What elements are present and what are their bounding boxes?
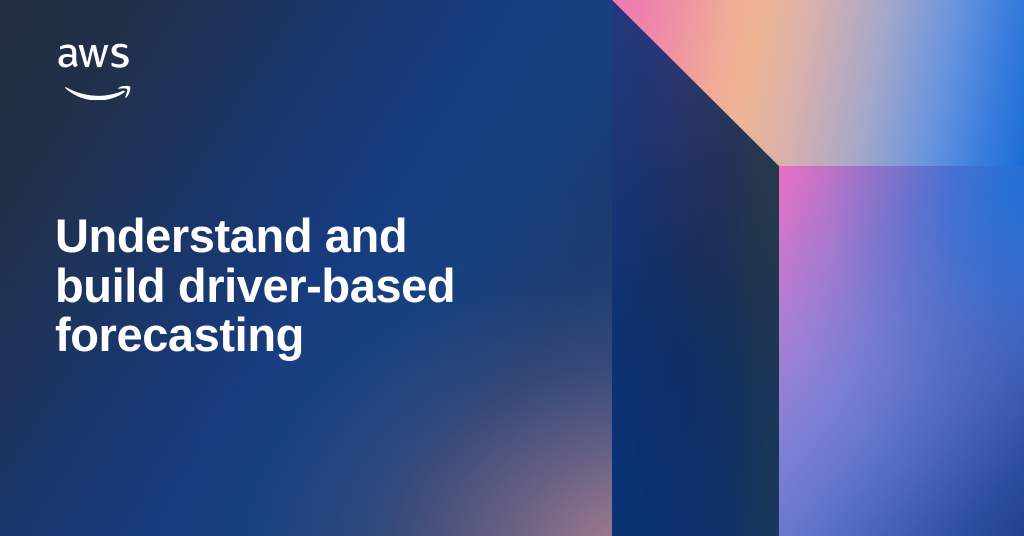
aws-logo-icon[interactable] [55,40,147,100]
aws-hero-banner: Understand and build driver-based foreca… [0,0,1024,536]
page-title: Understand and build driver-based foreca… [55,211,525,360]
cube-right-face-blue-tint [779,166,1024,536]
